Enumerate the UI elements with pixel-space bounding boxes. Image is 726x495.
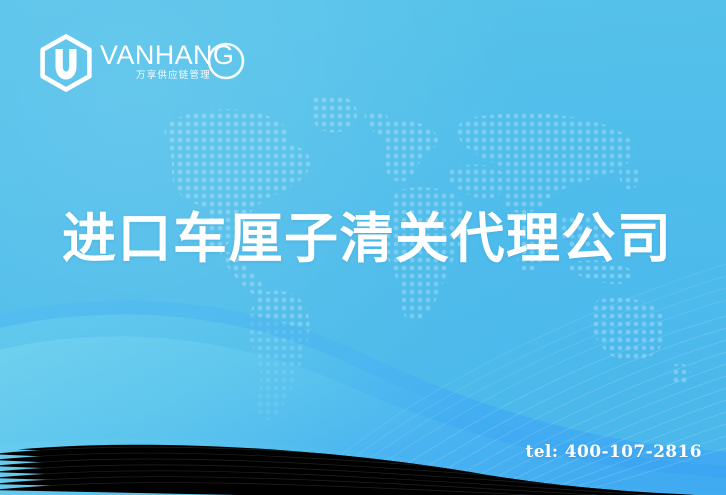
wordmark-subtitle: 万享供应链管理: [136, 69, 211, 81]
wordmark-text: VANHANG: [100, 40, 234, 70]
contact-phone[interactable]: tel: 400-107-2816: [525, 442, 702, 462]
brand-wordmark: VANHANG 万享供应链管理: [100, 39, 250, 87]
hexagon-v-mark-icon: [36, 33, 96, 93]
promo-banner: VANHANG 万享供应链管理 进口车厘子清关代理公司 tel: 400-107…: [0, 0, 726, 495]
brand-logo[interactable]: VANHANG 万享供应链管理: [36, 32, 251, 94]
page-title: 进口车厘子清关代理公司: [62, 206, 673, 272]
